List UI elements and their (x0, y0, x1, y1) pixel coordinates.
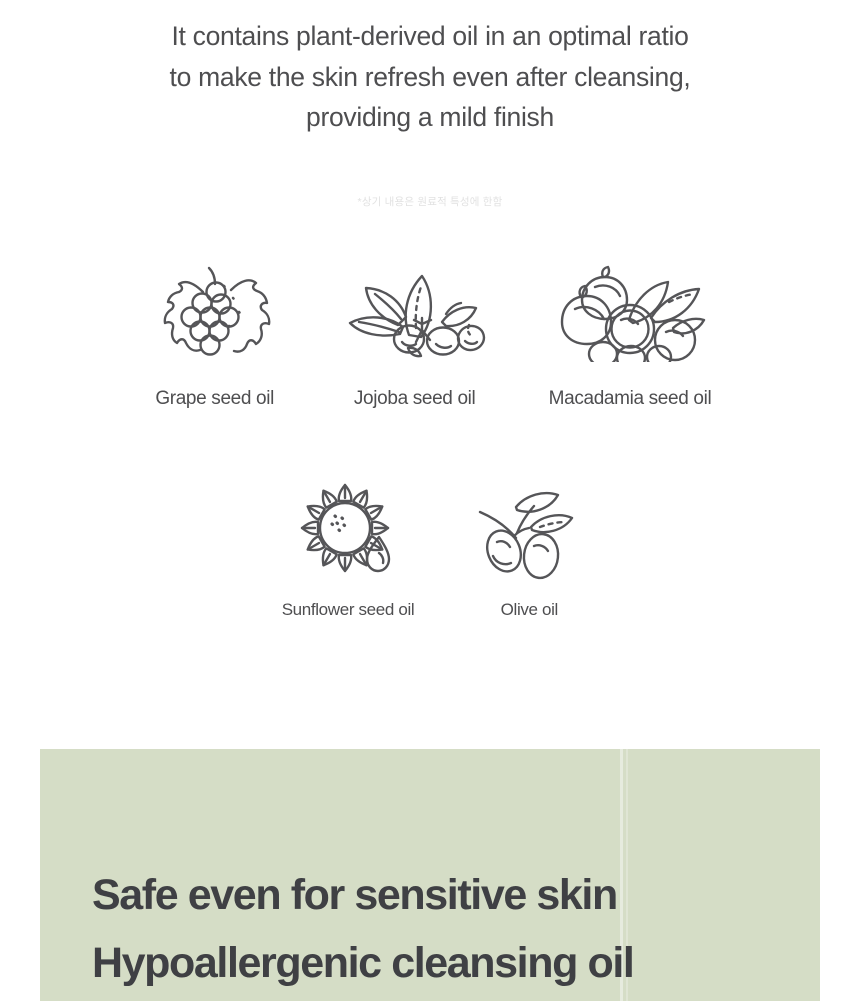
headline-line-2: to make the skin refresh even after clea… (0, 57, 860, 98)
sunflower-icon (293, 480, 403, 580)
ingredient-label-olive: Olive oil (501, 600, 558, 620)
ingredient-label-jojoba: Jojoba seed oil (354, 388, 476, 410)
headline-line-1: It contains plant-derived oil in an opti… (0, 16, 860, 57)
olive-branch-icon (474, 480, 584, 580)
hypoallergenic-banner: Safe even for sensitive skin Hypoallerge… (40, 749, 820, 1001)
grape-cluster-icon (149, 258, 281, 366)
ingredient-grid: Grape seed oil (0, 258, 860, 620)
banner-heading: Safe even for sensitive skin Hypoallerge… (92, 861, 633, 997)
page-headline: It contains plant-derived oil in an opti… (0, 16, 860, 138)
jojoba-berries-icon (336, 258, 494, 366)
ingredient-item-jojoba: Jojoba seed oil (336, 258, 494, 410)
ingredient-label-macadamia: Macadamia seed oil (549, 388, 712, 410)
ingredient-item-sunflower: Sunflower seed oil (282, 480, 415, 620)
banner-heading-line-1: Safe even for sensitive skin (92, 861, 633, 929)
ingredient-label-sunflower: Sunflower seed oil (282, 600, 415, 620)
ingredient-item-grape: Grape seed oil (149, 258, 281, 410)
ingredient-row-1: Grape seed oil (0, 258, 860, 410)
ingredient-label-grape: Grape seed oil (155, 388, 274, 410)
macadamia-nuts-icon (551, 258, 709, 366)
korean-disclaimer-note: *상기 내용은 원료적 특성에 한함 (0, 194, 860, 209)
ingredient-row-2: Sunflower seed oil (0, 480, 860, 620)
headline-line-3: providing a mild finish (0, 97, 860, 138)
ingredient-item-macadamia: Macadamia seed oil (549, 258, 712, 410)
banner-heading-line-2: Hypoallergenic cleansing oil (92, 929, 633, 997)
ingredient-item-olive: Olive oil (474, 480, 584, 620)
